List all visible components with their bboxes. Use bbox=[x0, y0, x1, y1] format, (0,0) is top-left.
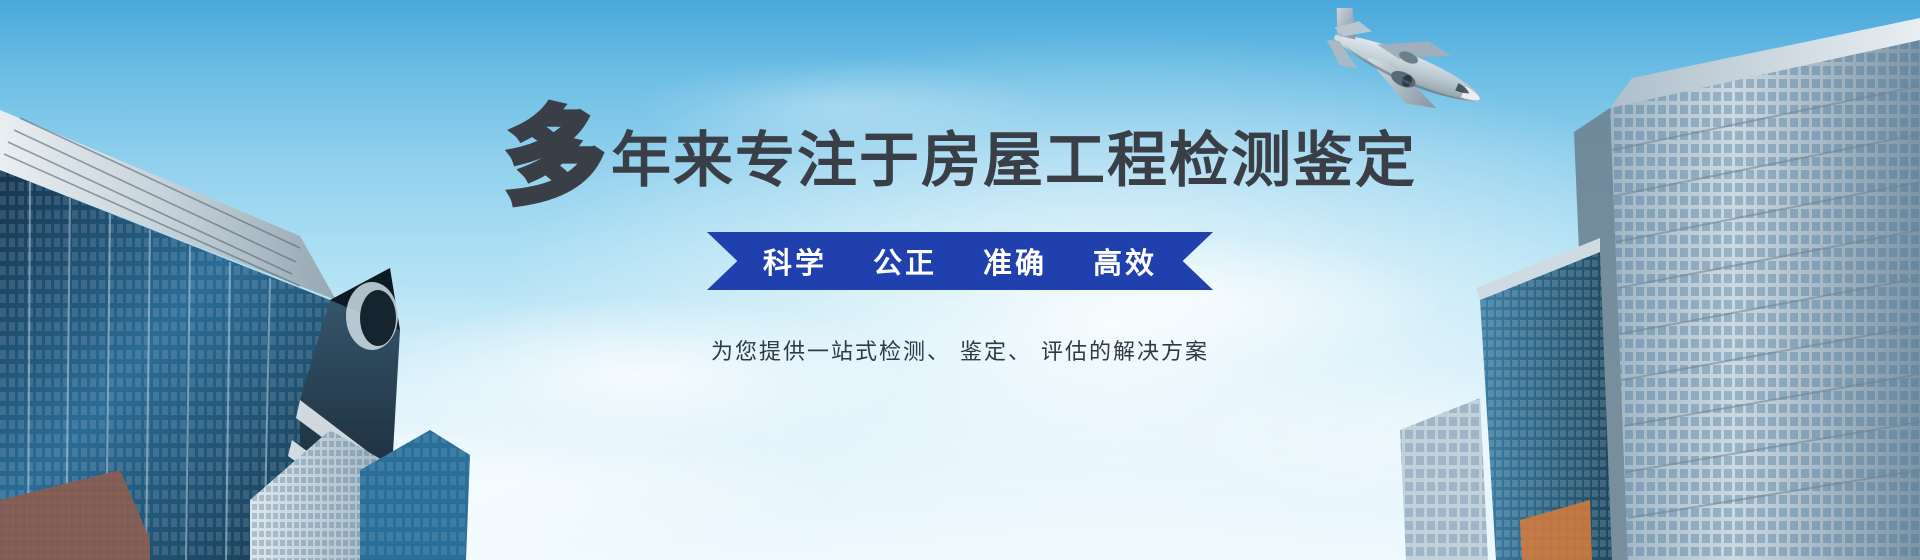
page-title: 多 年来专注于房屋工程检测鉴定 bbox=[503, 112, 1417, 198]
ribbon-keyword-3: 准确 bbox=[983, 240, 1047, 282]
banner-subtitle: 为您提供一站式检测、 鉴定、 评估的解决方案 bbox=[711, 334, 1209, 366]
airplane-icon bbox=[1300, 8, 1510, 128]
keyword-ribbon: 科学 公正 准确 高效 bbox=[707, 232, 1213, 290]
hero-banner: 多 年来专注于房屋工程检测鉴定 科学 公正 准确 高效 为您提供一站式检测、 鉴… bbox=[0, 0, 1920, 560]
ribbon-keyword-4: 高效 bbox=[1093, 240, 1157, 282]
ribbon-keyword-1: 科学 bbox=[763, 240, 827, 282]
ribbon-keyword-2: 公正 bbox=[873, 240, 937, 282]
headline-lead-char: 多 bbox=[506, 113, 604, 202]
headline-text: 年来专注于房屋工程检测鉴定 bbox=[611, 112, 1417, 199]
skyscraper-left bbox=[0, 0, 560, 560]
